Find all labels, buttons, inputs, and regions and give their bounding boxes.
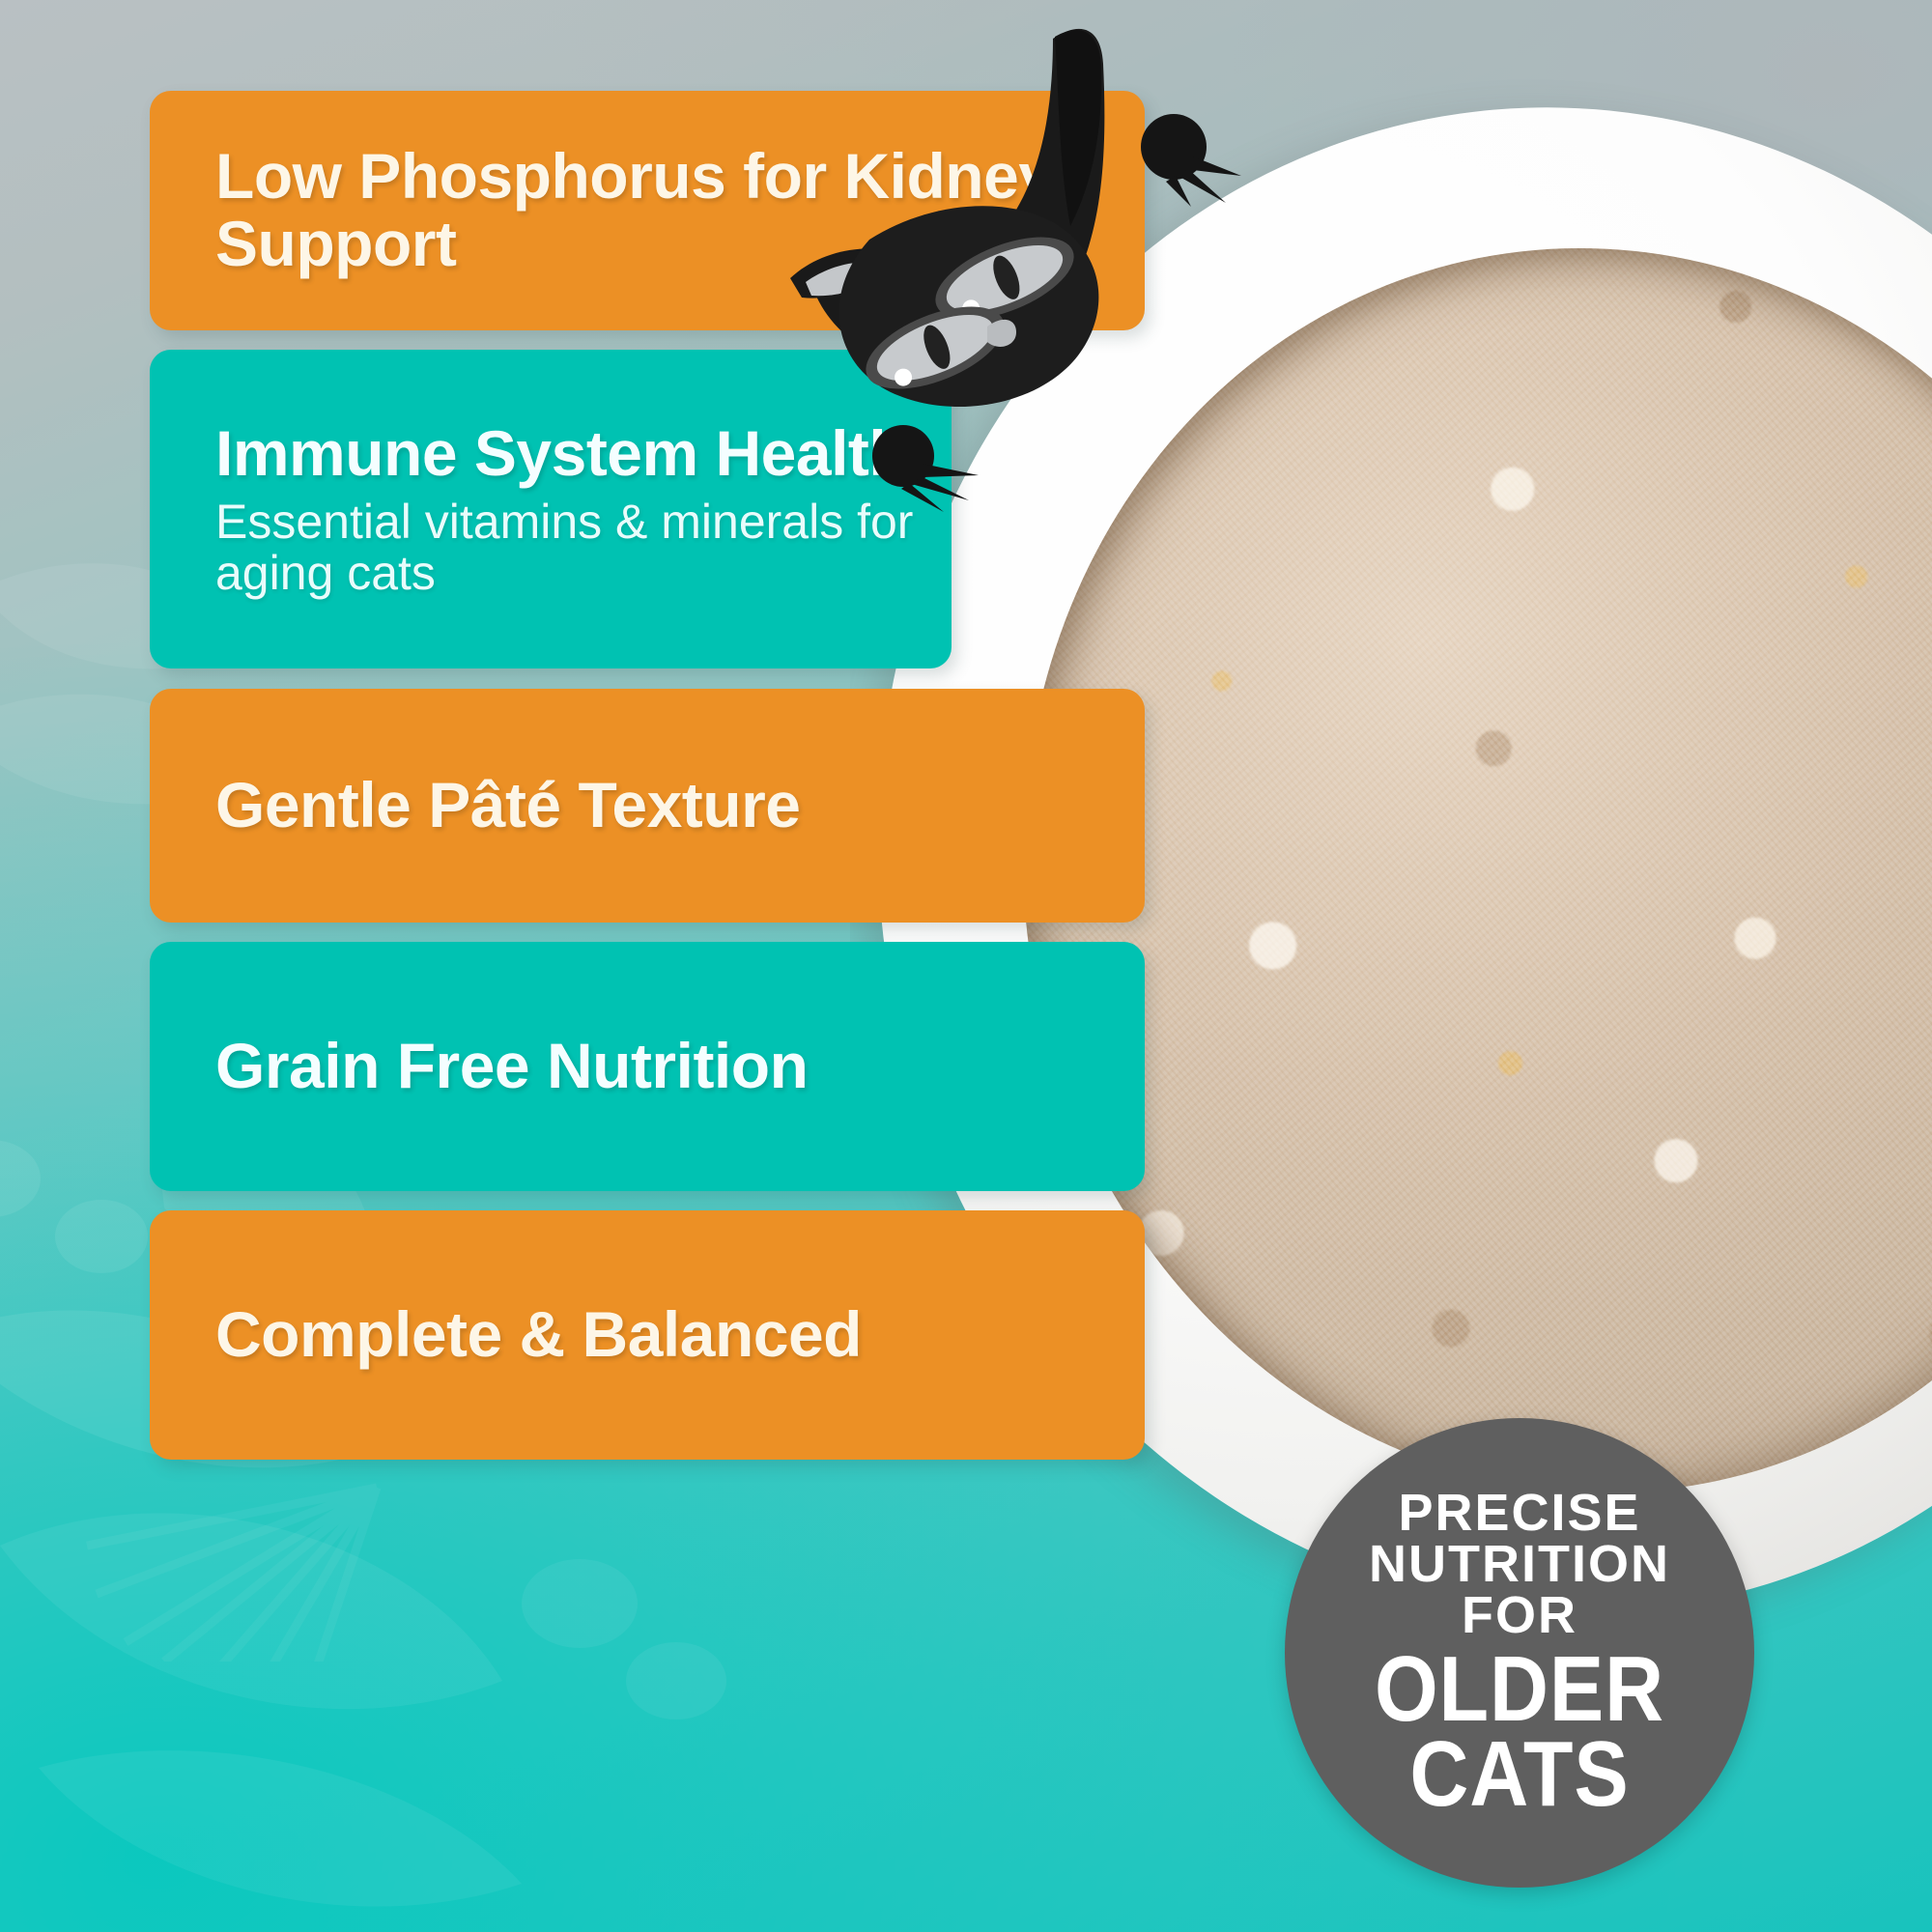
- feature-banner-complete-balanced[interactable]: Complete & Balanced: [150, 1210, 1145, 1460]
- whisker-dot-icon: [1133, 114, 1249, 207]
- badge-line-3: FOR: [1462, 1590, 1577, 1641]
- feature-title: Complete & Balanced: [215, 1301, 1122, 1369]
- feature-title: Grain Free Nutrition: [215, 1033, 1122, 1100]
- feature-subtitle: Essential vitamins & minerals for aging …: [215, 497, 928, 598]
- badge-line-2: NUTRITION: [1369, 1539, 1670, 1590]
- product-feature-graphic: Low Phosphorus for Kidney Support Immune…: [0, 0, 1932, 1932]
- whisker-dot-icon-secondary: [865, 425, 990, 512]
- precise-nutrition-badge[interactable]: PRECISE NUTRITION FOR OLDER CATS: [1285, 1418, 1754, 1888]
- badge-line-1: PRECISE: [1398, 1488, 1640, 1539]
- cat-head-icon: [763, 19, 1265, 444]
- feature-title: Gentle Pâté Texture: [215, 772, 1122, 839]
- feature-banner-grain-free-nutrition[interactable]: Grain Free Nutrition: [150, 942, 1145, 1191]
- feature-banner-gentle-pate-texture[interactable]: Gentle Pâté Texture: [150, 689, 1145, 923]
- badge-line-4: OLDER CATS: [1313, 1647, 1726, 1818]
